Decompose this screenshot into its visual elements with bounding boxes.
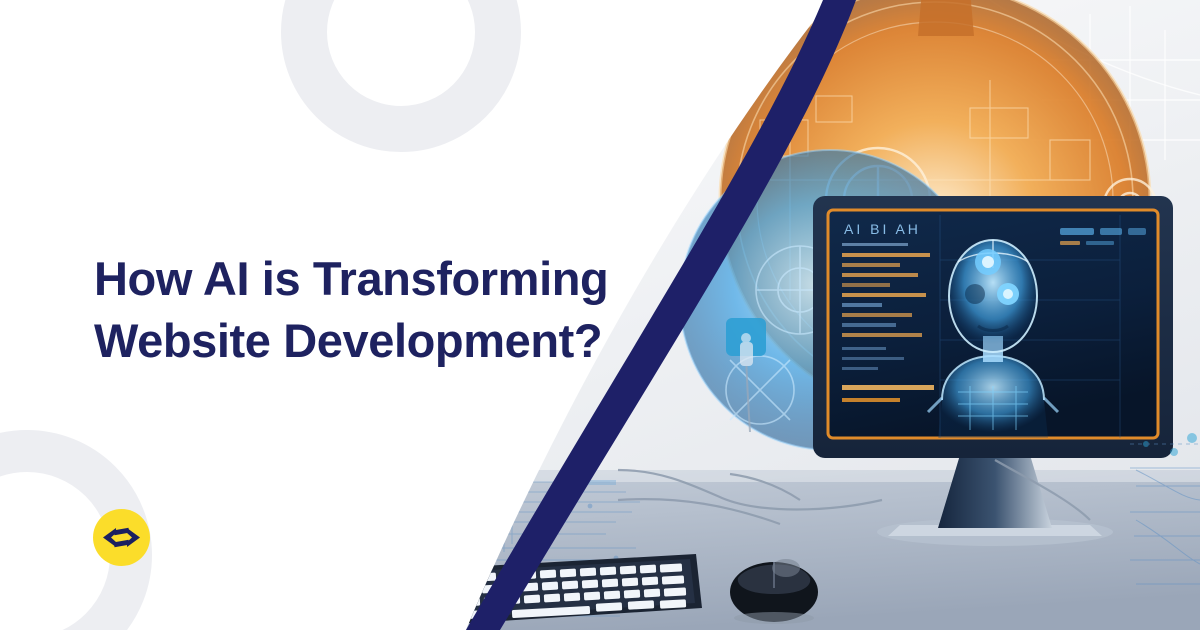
logo-arrow-mark xyxy=(93,509,150,566)
headline-line-2: Website Development? xyxy=(94,310,654,372)
headline-line-1: How AI is Transforming xyxy=(94,248,654,310)
decorative-ring-top-left xyxy=(281,0,521,152)
brand-logo[interactable] xyxy=(93,509,150,566)
page-title: How AI is Transforming Website Developme… xyxy=(94,248,654,372)
blog-banner: AI BI AH xyxy=(0,0,1200,630)
screen-label-text: AI BI AH xyxy=(844,221,921,237)
